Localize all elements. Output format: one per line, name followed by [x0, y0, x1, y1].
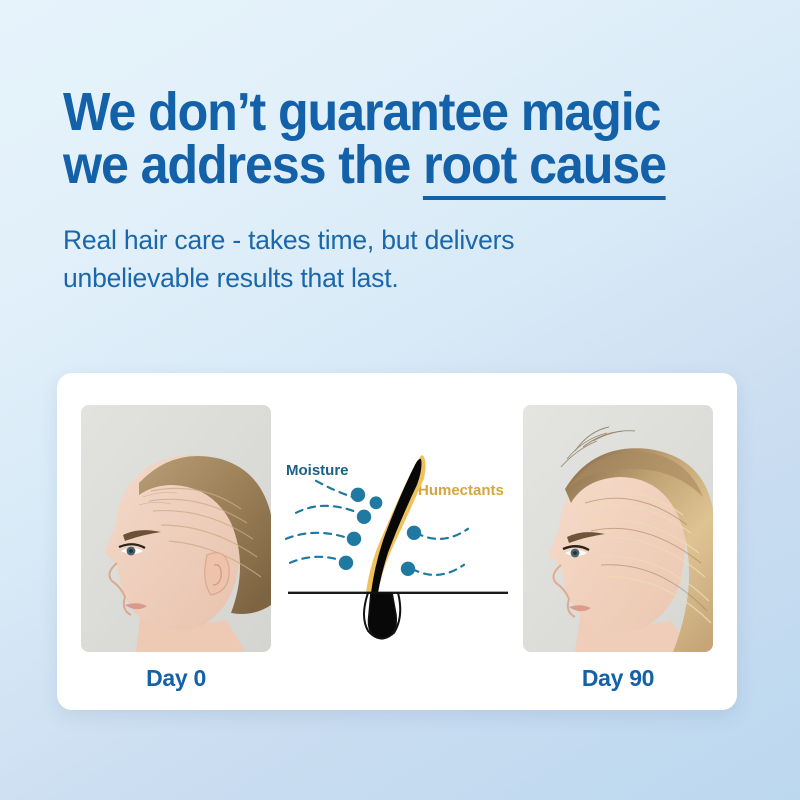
follicle-diagram-svg: Moisture Humectants	[272, 432, 522, 642]
follicle-diagram: Moisture Humectants	[272, 432, 522, 642]
page-title: We don’t guarantee magic we address the …	[63, 86, 714, 192]
after-photo	[523, 405, 713, 652]
follicle-bulb	[369, 592, 397, 638]
before-panel: Day 0	[57, 373, 272, 710]
after-label: Day 90	[523, 665, 713, 692]
headline-emphasis-root-cause: root cause	[423, 135, 666, 200]
before-photo-illustration	[81, 405, 271, 652]
after-panel: Day 90	[522, 373, 737, 710]
before-after-card: Day 0 Moisture Humectants	[57, 373, 737, 710]
humectants-label: Humectants	[418, 481, 504, 498]
moisture-label: Moisture	[286, 461, 349, 478]
subheadline-line-1: Real hair care - takes time, but deliver…	[63, 222, 683, 260]
before-photo	[81, 405, 271, 652]
follicle-diagram-panel: Moisture Humectants	[272, 373, 522, 710]
headline-block: We don’t guarantee magic we address the …	[63, 86, 763, 192]
headline-line-2: we address the root cause	[63, 139, 714, 192]
subheadline: Real hair care - takes time, but deliver…	[63, 222, 683, 297]
before-label: Day 0	[81, 665, 271, 692]
headline-line-1: We don’t guarantee magic	[63, 86, 714, 139]
subheadline-line-2: unbelievable results that last.	[63, 260, 683, 298]
moisture-flow-lines-left	[286, 480, 358, 562]
headline-line-2-prefix: we address the	[63, 135, 423, 195]
card-inner: Day 0 Moisture Humectants	[57, 373, 737, 710]
after-photo-illustration	[523, 405, 713, 652]
